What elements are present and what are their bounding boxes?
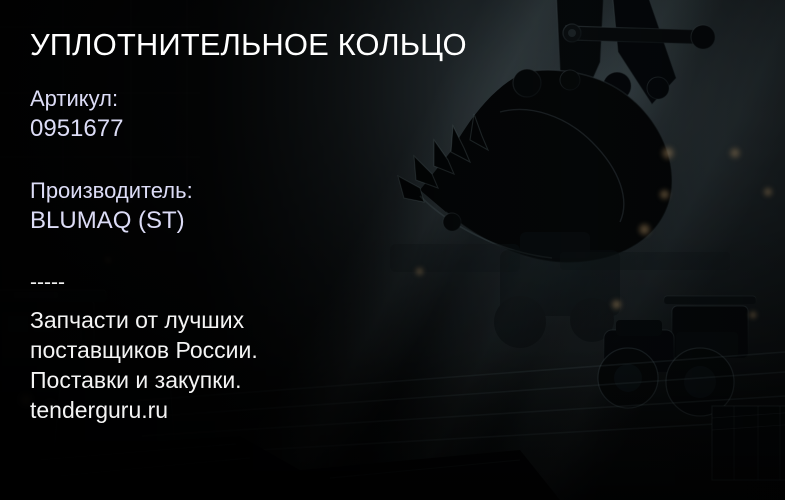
manufacturer-value: BLUMAQ (ST)	[30, 205, 193, 236]
article-field: Артикул: 0951677	[30, 84, 123, 144]
tagline-line-2: поставщиков России.	[30, 335, 258, 365]
tagline-line-3: Поставки и закупки.	[30, 365, 258, 395]
manufacturer-field: Производитель: BLUMAQ (ST)	[30, 176, 193, 236]
site-url: tenderguru.ru	[30, 395, 258, 425]
article-value: 0951677	[30, 113, 123, 144]
card-content: УПЛОТНИТЕЛЬНОЕ КОЛЬЦО Артикул: 0951677 П…	[30, 0, 550, 500]
divider: -----	[30, 270, 65, 296]
tagline-line-1: Запчасти от лучших	[30, 305, 258, 335]
product-banner-card: УПЛОТНИТЕЛЬНОЕ КОЛЬЦО Артикул: 0951677 П…	[0, 0, 785, 500]
tagline-block: Запчасти от лучших поставщиков России. П…	[30, 305, 258, 425]
article-label: Артикул:	[30, 84, 123, 113]
manufacturer-label: Производитель:	[30, 176, 193, 205]
page-title: УПЛОТНИТЕЛЬНОЕ КОЛЬЦО	[30, 26, 467, 64]
